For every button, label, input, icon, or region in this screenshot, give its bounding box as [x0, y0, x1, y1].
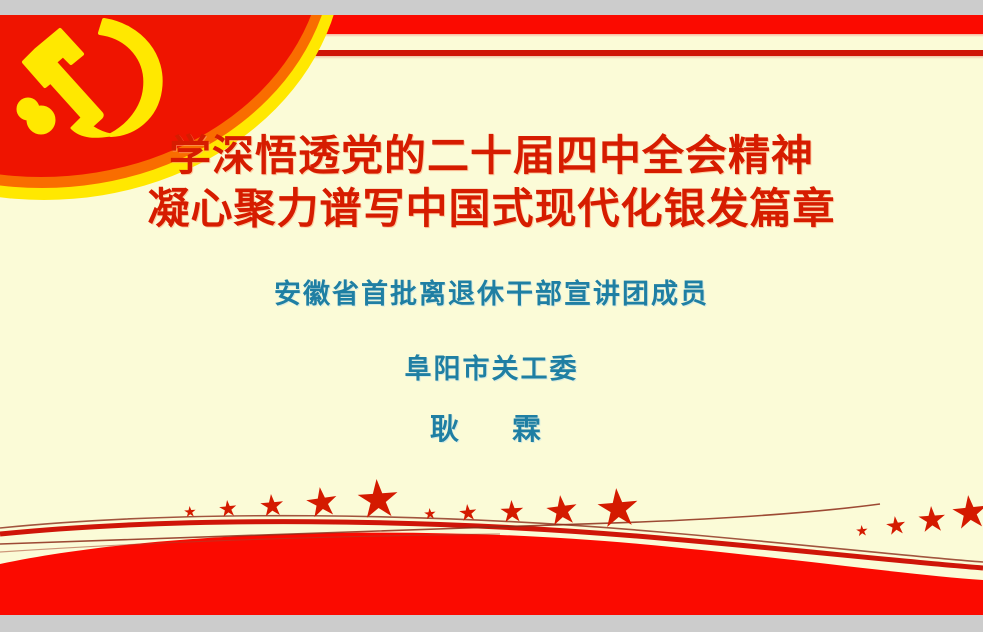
bottom-wave-decoration — [0, 472, 983, 632]
frame-bar-bottom — [0, 615, 983, 632]
subtitle-unit: 阜阳市关工委 — [0, 347, 983, 386]
hammer-and-sickle-icon — [8, 14, 178, 139]
slide-title-line-2: 凝心聚力谱写中国式现代化银发篇章 — [0, 182, 983, 236]
presentation-slide: 学深悟透党的二十届四中全会精神 凝心聚力谱写中国式现代化银发篇章 安徽省首批离退… — [0, 0, 983, 632]
subtitle-organization: 安徽省首批离退休干部宣讲团成员 — [0, 272, 983, 311]
frame-bar-top — [0, 0, 983, 15]
presenter-name: 耿 霖 — [0, 406, 983, 448]
slide-title-line-1: 学深悟透党的二十届四中全会精神 — [0, 129, 983, 183]
